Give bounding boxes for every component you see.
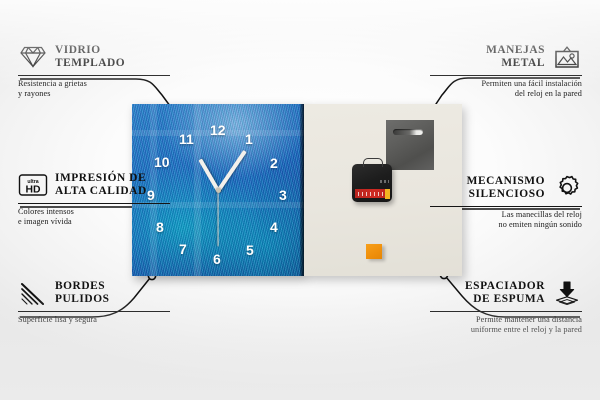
feature-desc-line1: Colores intensos [18,207,208,217]
feature-title-line2: PULIDOS [55,293,110,306]
feature-desc-line2: del reloj en la pared [392,89,582,99]
feature-title-line2: SILENCIOSO [467,188,545,201]
clock-numeral-6: 6 [213,252,221,266]
feature-foam-spacer: ESPACIADOR DE ESPUMA Permite mantener un… [392,278,582,334]
feature-silent-mechanism: MECANISMO SILENCIOSO Las manecillas del … [392,173,582,229]
feature-desc-line2: y rayones [18,89,208,99]
clock-numeral-2: 2 [270,156,278,170]
clock-center-hub [216,188,221,193]
feature-desc-line1: Permiten una fácil instalación [392,79,582,89]
clock-minute-hand [217,150,247,192]
foam-spacer-icon [552,278,582,308]
gear-icon [552,173,582,203]
feature-rule [18,75,170,76]
diamond-icon [18,42,48,72]
ultra-hd-icon: ultra HD [18,170,48,200]
clock-mechanism-box [352,164,392,202]
clock-numeral-3: 3 [279,188,287,202]
clock-numeral-12: 12 [210,123,226,137]
feature-hd-printing: ultra HD IMPRESIÓN DE ALTA CALIDAD Color… [18,170,208,226]
feature-desc-line2: no emiten ningún sonido [392,220,582,230]
feature-desc-line1: Permite mantener una distancia [392,315,582,325]
clock-numeral-11: 11 [179,132,194,146]
ultra-hd-icon-large-text: HD [25,185,41,196]
clock-numeral-5: 5 [246,243,254,257]
feature-desc-line1: Las manecillas del reloj [392,210,582,220]
feature-title-line2: DE ESPUMA [465,293,545,306]
feature-title-line2: METAL [486,57,545,70]
feature-rule [18,203,170,204]
feature-rule [430,206,582,207]
feature-title-line1: ESPACIADOR [465,280,545,293]
metal-hanger-plate [386,120,434,170]
clock-numeral-7: 7 [179,242,187,256]
feature-tempered-glass: VIDRIO TEMPLADO Resistencia a grietas y … [18,42,208,98]
foam-spacer-pad [366,244,382,259]
feature-rule [430,75,582,76]
feature-rule [430,311,582,312]
feature-title-line2: TEMPLADO [55,57,125,70]
mechanism-hanger-loop [363,158,383,167]
feature-title-line1: VIDRIO [55,44,125,57]
feature-title-line1: MECANISMO [467,175,545,188]
feature-desc-line1: Resistencia a grietas [18,79,208,89]
feature-title-line1: BORDES [55,280,110,293]
feature-polished-edges: BORDES PULIDOS Superficie lisa y segura [18,278,208,325]
feature-title-line1: IMPRESIÓN DE [55,172,147,185]
picture-hanger-icon [552,42,582,72]
feature-rule [18,311,170,312]
feature-title-line2: ALTA CALIDAD [55,185,147,198]
clock-numeral-10: 10 [154,155,170,169]
feature-metal-hangers: MANEJAS METAL Permiten una fácil instala… [392,42,582,98]
mechanism-battery [385,189,390,199]
mechanism-label-strip [355,189,389,198]
feature-title-line1: MANEJAS [486,44,545,57]
feature-desc-line2: uniforme entre el reloj y la pared [392,325,582,335]
polished-edge-icon [18,278,48,308]
clock-numeral-4: 4 [270,220,278,234]
clock-numeral-1: 1 [245,132,253,146]
feature-desc-line1: Superficie lisa y segura [18,315,208,325]
clock-second-hand [217,191,218,247]
infographic-canvas: 12 1 2 3 4 5 6 7 8 9 10 11 [0,0,600,400]
feature-desc-line2: e imagen vívida [18,217,208,227]
